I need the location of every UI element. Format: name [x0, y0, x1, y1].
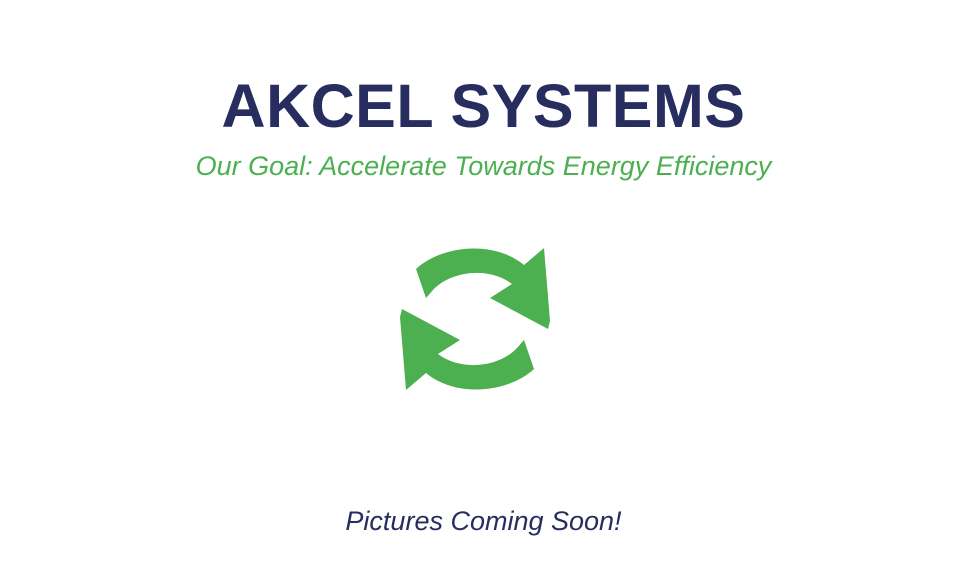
recycle-cycle-arrows-graphic — [390, 243, 560, 395]
recycle-cycle-arrows-icon — [390, 243, 560, 395]
page-root: AKCEL SYSTEMS Our Goal: Accelerate Towar… — [0, 0, 967, 581]
coming-soon-notice: Pictures Coming Soon! — [0, 505, 967, 539]
company-tagline: Our Goal: Accelerate Towards Energy Effi… — [0, 150, 967, 184]
page-title: AKCEL SYSTEMS — [0, 73, 967, 140]
